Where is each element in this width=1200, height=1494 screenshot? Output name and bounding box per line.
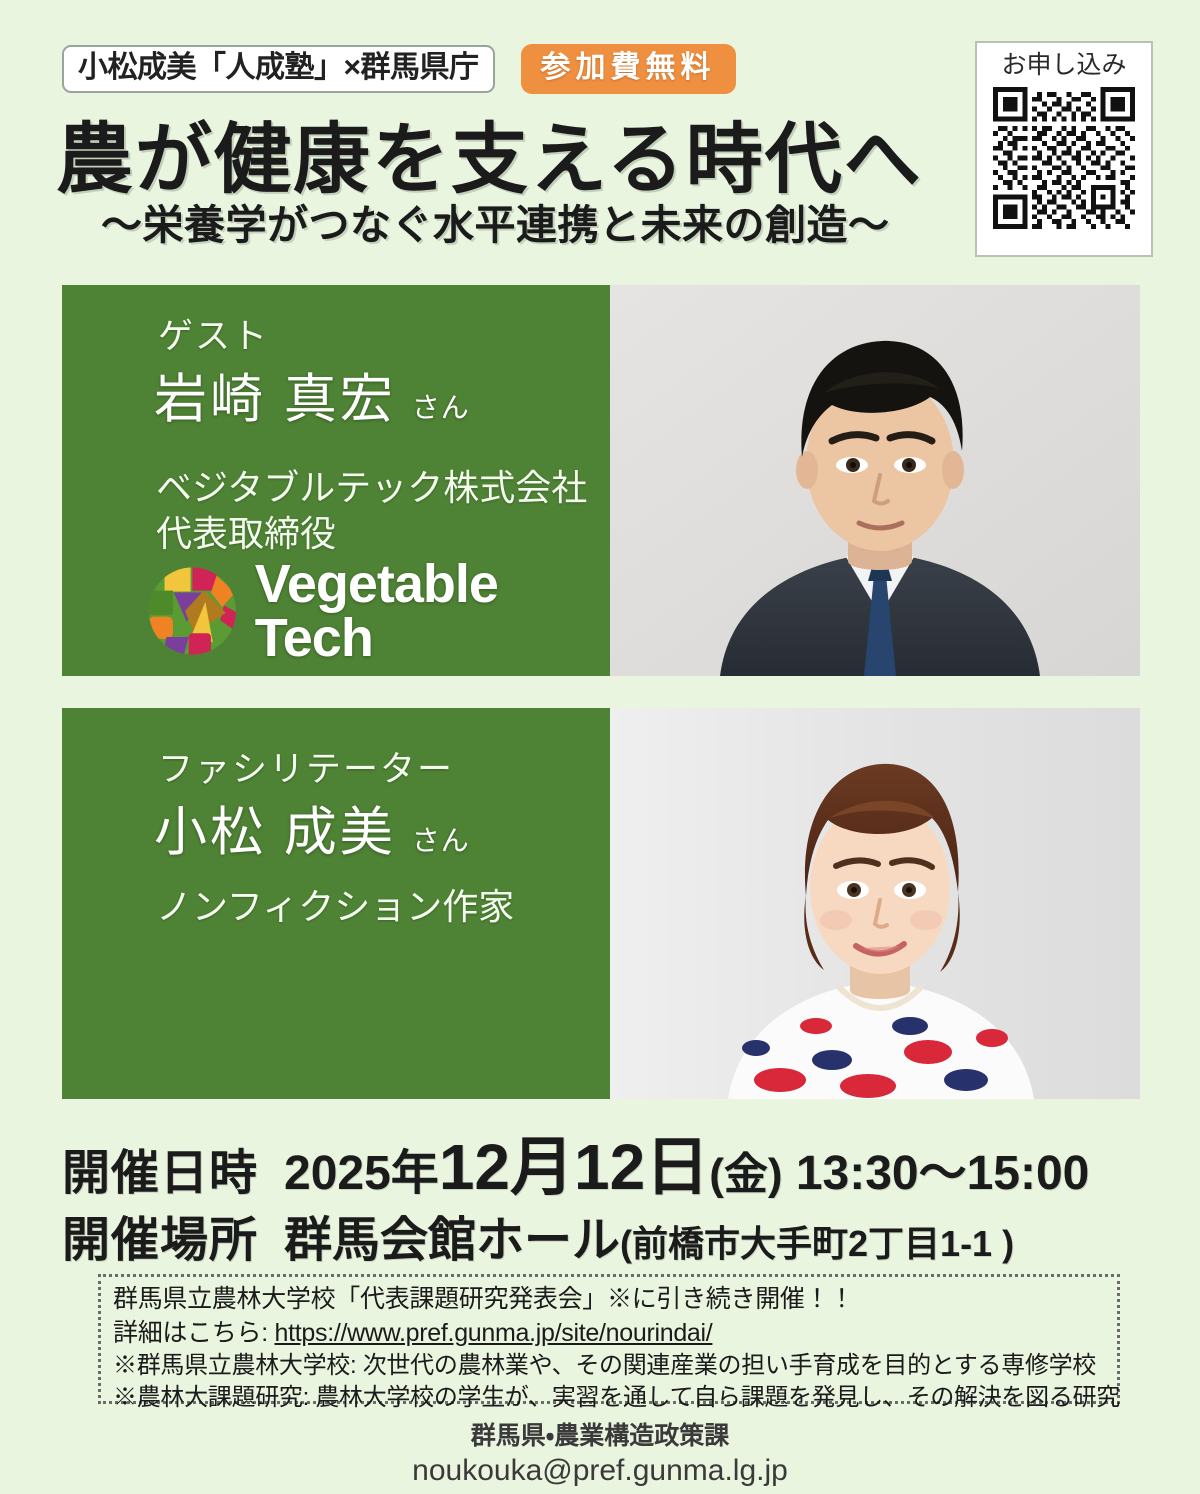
guest-name: 岩崎 真宏さん [154,373,470,426]
facilitator-name-text: 小松 成美 [154,803,396,862]
application-qr-card[interactable]: お申し込み [975,41,1153,257]
facilitator-info-block: ファシリテーター 小松 成美さん ノンフィクション作家 [62,708,610,1099]
page-title: 農が健康を支える時代へ [56,120,923,201]
guest-name-text: 岩崎 真宏 [154,370,396,429]
event-venue-label: 開催場所 [62,1217,258,1265]
event-date-row: 開催日時 2025年12月12日(金) 13:30〜15:00 [62,1135,1089,1199]
guest-info-block: ゲスト 岩崎 真宏さん ベジタブルテック株式会社 代表取締役 [62,285,610,676]
event-date-day: 12日 [574,1131,709,1203]
event-date-year: 2025年 [284,1147,439,1200]
poster-root: 小松成美「人成塾」×群馬県庁 参加費無料 お申し込み [0,0,1200,1494]
event-date-month: 12月 [439,1131,574,1203]
facilitator-panel: ファシリテーター 小松 成美さん ノンフィクション作家 [62,708,1140,1099]
facilitator-role-label: ファシリテーター [158,752,454,787]
guest-portrait-image [610,285,1140,676]
facilitator-name-suffix: さん [412,825,470,856]
guest-affiliation: ベジタブルテック株式会社 代表取締役 [156,465,587,557]
event-date-weekday: (金) [709,1150,782,1199]
nourindai-url-link[interactable]: https://www.pref.gunma.jp/site/nourindai… [275,1319,713,1347]
facilitator-job-title: ノンフィクション作家 [156,884,514,930]
guest-role-label: ゲスト [158,319,269,354]
facilitator-photo [610,708,1140,1099]
event-time: 13:30〜15:00 [796,1147,1090,1200]
note-line-1: 群馬県立農林大学校「代表課題研究発表会」※に引き続き開催！！ [113,1283,1107,1317]
note-detail-prefix: 詳細はこちら: [113,1319,275,1347]
facilitator-name: 小松 成美さん [154,806,470,859]
event-date-label: 開催日時 [62,1150,258,1198]
event-venue-value: 群馬会館ホール(前橋市大手町2丁目1-1 ) [284,1217,1014,1265]
event-venue-address: (前橋市大手町2丁目1-1 ) [620,1223,1014,1264]
qr-code-icon[interactable] [993,87,1135,229]
qr-label: お申し込み [1001,52,1126,80]
footer-organization: 群馬県・農業構造政策課 [0,1421,1200,1452]
event-venue-row: 開催場所 群馬会館ホール(前橋市大手町2丁目1-1 ) [62,1217,1089,1265]
series-badge: 小松成美「人成塾」×群馬県庁 [62,45,495,93]
guest-photo [610,285,1140,676]
event-date-value: 2025年12月12日(金) 13:30〜15:00 [284,1135,1089,1199]
guest-affiliation-line1: ベジタブルテック株式会社 [156,465,587,511]
vegetable-tech-logo-lockup: Vegetable Tech [146,557,610,665]
footer-contact: 群馬県・農業構造政策課 noukouka@pref.gunma.lg.jp [0,1421,1200,1490]
guest-affiliation-line2: 代表取締役 [156,511,587,557]
event-info: 開催日時 2025年12月12日(金) 13:30〜15:00 開催場所 群馬会… [62,1135,1089,1265]
header-badges: 小松成美「人成塾」×群馬県庁 参加費無料 [62,44,736,94]
related-event-note-box: 群馬県立農林大学校「代表課題研究発表会」※に引き続き開催！！ 詳細はこちら: h… [98,1274,1120,1404]
note-line-3: ※群馬県立農林大学校: 次世代の農林業や、その関連産業の担い手育成を目的とする専… [113,1350,1107,1382]
guest-speaker-panel: ゲスト 岩崎 真宏さん ベジタブルテック株式会社 代表取締役 [62,285,1140,676]
vegetable-tech-logo-icon [146,562,239,660]
free-admission-badge: 参加費無料 [521,44,736,94]
guest-name-suffix: さん [412,392,470,423]
vegetable-tech-wordmark: Vegetable Tech [255,557,610,665]
footer-email[interactable]: noukouka@pref.gunma.lg.jp [0,1452,1200,1490]
page-subtitle: 〜栄養学がつなぐ水平連携と未来の創造〜 [101,203,890,248]
note-line-4: ※農林大課題研究: 農林大学校の学生が、実習を通して自ら課題を発見し、その解決を… [113,1382,1107,1414]
note-line-2: 詳細はこちら: https://www.pref.gunma.jp/site/n… [113,1317,1107,1351]
facilitator-portrait-image [610,708,1140,1099]
event-venue-name: 群馬会館ホール [284,1214,620,1267]
